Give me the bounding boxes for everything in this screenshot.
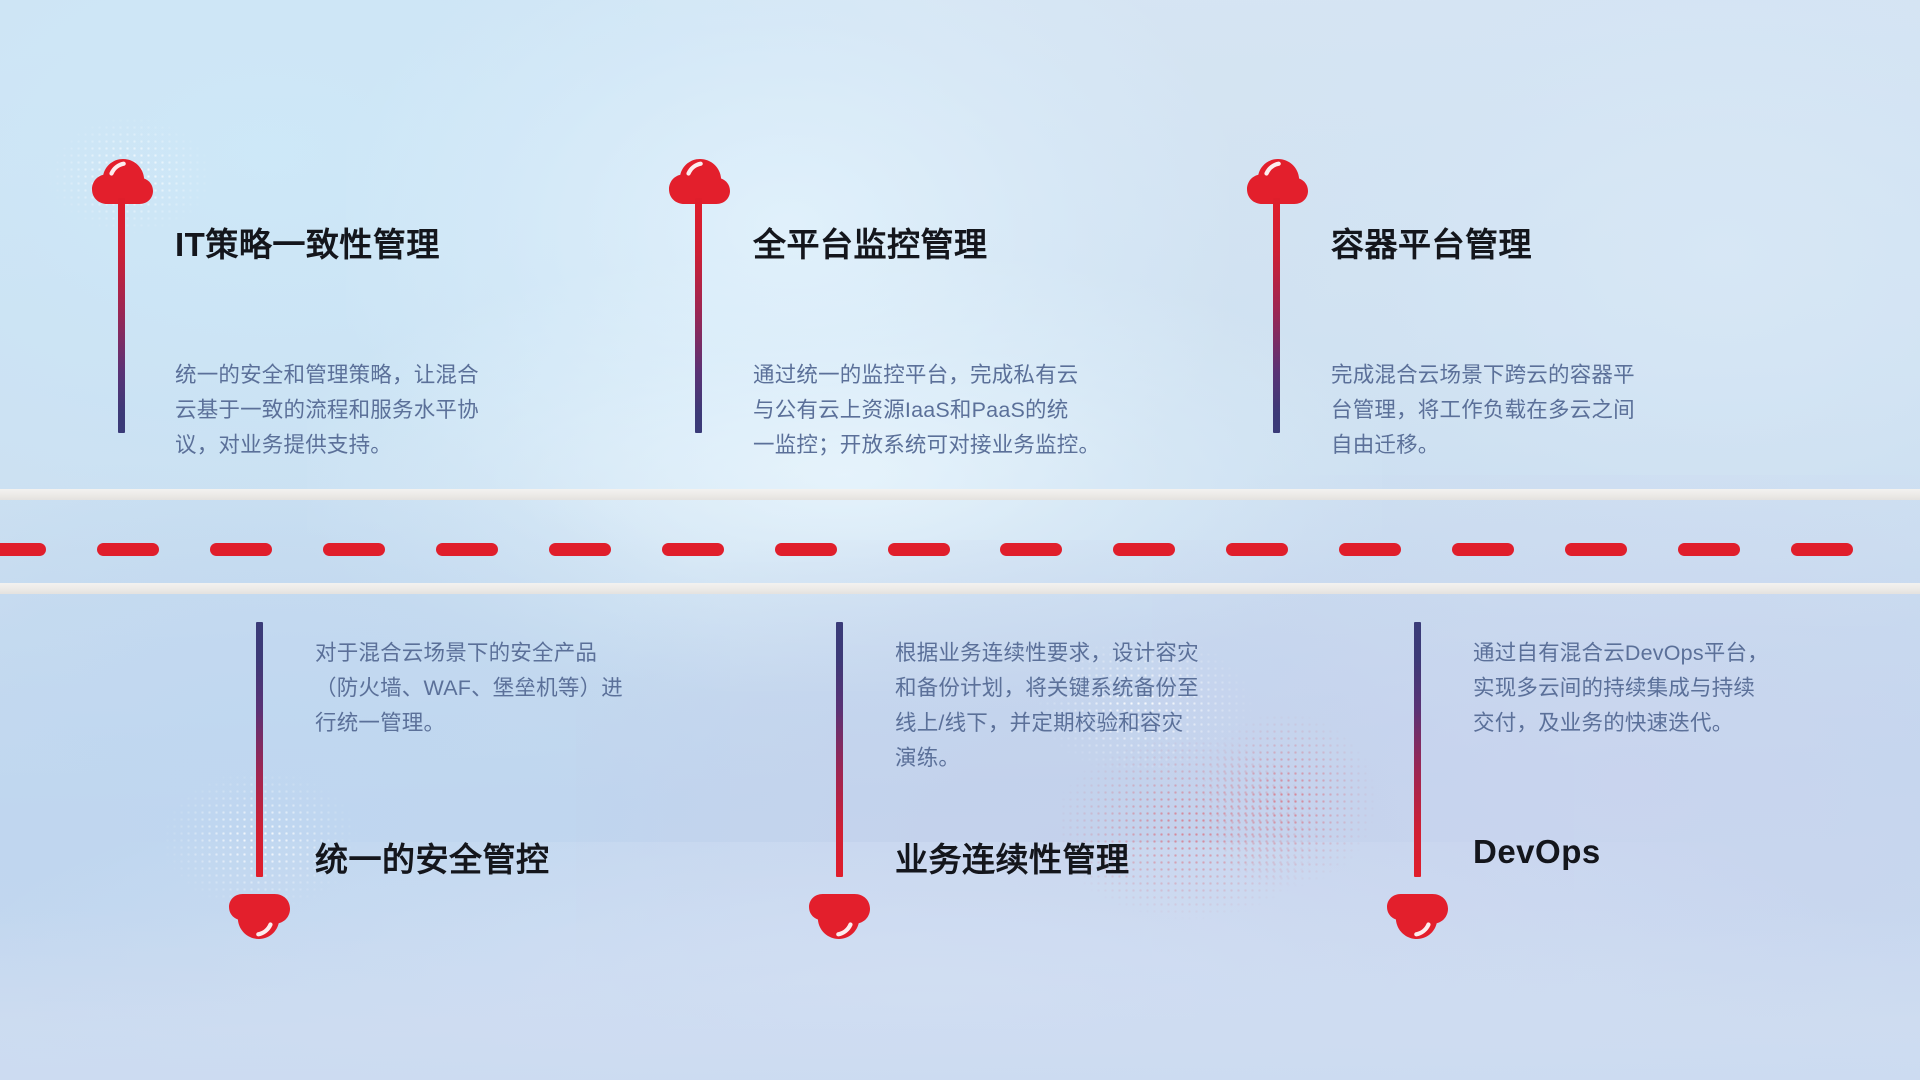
body-line: 云基于一致的流程和服务水平协 <box>175 393 479 428</box>
divider-dashed-line <box>0 543 1920 556</box>
cloud-icon <box>808 893 872 943</box>
body-line: （防火墙、WAF、堡垒机等）进 <box>315 671 623 706</box>
body-line: 台管理，将工作负载在多云之间 <box>1331 393 1635 428</box>
divider-dash <box>888 543 950 556</box>
column-body: 通过自有混合云DevOps平台， 实现多云间的持续集成与持续 交付，及业务的快速… <box>1473 636 1769 741</box>
connector-line <box>1414 622 1421 877</box>
body-line: 线上/线下，并定期校验和容灾 <box>895 706 1199 741</box>
divider-dash <box>1000 543 1062 556</box>
divider-dash <box>1791 543 1853 556</box>
divider-dash <box>1565 543 1627 556</box>
divider-dash <box>97 543 159 556</box>
column-body: 统一的安全和管理策略，让混合 云基于一致的流程和服务水平协 议，对业务提供支持。 <box>175 358 479 463</box>
connector-line <box>256 622 263 877</box>
body-line: 对于混合云场景下的安全产品 <box>315 636 623 671</box>
column-body: 对于混合云场景下的安全产品 （防火墙、WAF、堡垒机等）进 行统一管理。 <box>315 636 623 741</box>
divider-dash <box>1339 543 1401 556</box>
body-line: 议，对业务提供支持。 <box>175 428 479 463</box>
connector-line <box>695 198 702 433</box>
divider-dash <box>1452 543 1514 556</box>
column-title: IT策略一致性管理 <box>175 218 440 266</box>
body-line: 与公有云上资源IaaS和PaaS的统 <box>753 393 1100 428</box>
connector-line <box>118 198 125 433</box>
column-body: 通过统一的监控平台，完成私有云 与公有云上资源IaaS和PaaS的统 一监控；开… <box>753 358 1100 463</box>
divider-dash <box>1226 543 1288 556</box>
body-line: 统一的安全和管理策略，让混合 <box>175 358 479 393</box>
column-title: 容器平台管理 <box>1331 218 1532 266</box>
body-line: 行统一管理。 <box>315 706 623 741</box>
body-line: 自由迁移。 <box>1331 428 1635 463</box>
body-line: 通过自有混合云DevOps平台， <box>1473 636 1769 671</box>
body-line: 和备份计划，将关键系统备份至 <box>895 671 1199 706</box>
divider-dash <box>662 543 724 556</box>
divider-dash <box>1113 543 1175 556</box>
body-line: 完成混合云场景下跨云的容器平 <box>1331 358 1635 393</box>
divider-dash <box>436 543 498 556</box>
body-line: 通过统一的监控平台，完成私有云 <box>753 358 1100 393</box>
column-title: DevOps <box>1473 833 1601 871</box>
connector-line <box>836 622 843 877</box>
divider-dash <box>1678 543 1740 556</box>
column-title: 业务连续性管理 <box>895 833 1130 881</box>
cloud-icon <box>1386 893 1450 943</box>
column-title: 全平台监控管理 <box>753 218 988 266</box>
divider-bar-upper <box>0 489 1920 500</box>
body-line: 实现多云间的持续集成与持续 <box>1473 671 1769 706</box>
divider-dash <box>549 543 611 556</box>
body-line: 交付，及业务的快速迭代。 <box>1473 706 1769 741</box>
cloud-icon <box>228 893 292 943</box>
column-body: 根据业务连续性要求，设计容灾 和备份计划，将关键系统备份至 线上/线下，并定期校… <box>895 636 1199 776</box>
divider-dash <box>775 543 837 556</box>
divider-bar-lower <box>0 583 1920 594</box>
divider-dash <box>210 543 272 556</box>
divider-dash <box>0 543 46 556</box>
body-line: 根据业务连续性要求，设计容灾 <box>895 636 1199 671</box>
divider-dash <box>323 543 385 556</box>
body-line: 演练。 <box>895 741 1199 776</box>
connector-line <box>1273 198 1280 433</box>
column-body: 完成混合云场景下跨云的容器平 台管理，将工作负载在多云之间 自由迁移。 <box>1331 358 1635 463</box>
body-line: 一监控；开放系统可对接业务监控。 <box>753 428 1100 463</box>
column-title: 统一的安全管控 <box>315 833 550 881</box>
